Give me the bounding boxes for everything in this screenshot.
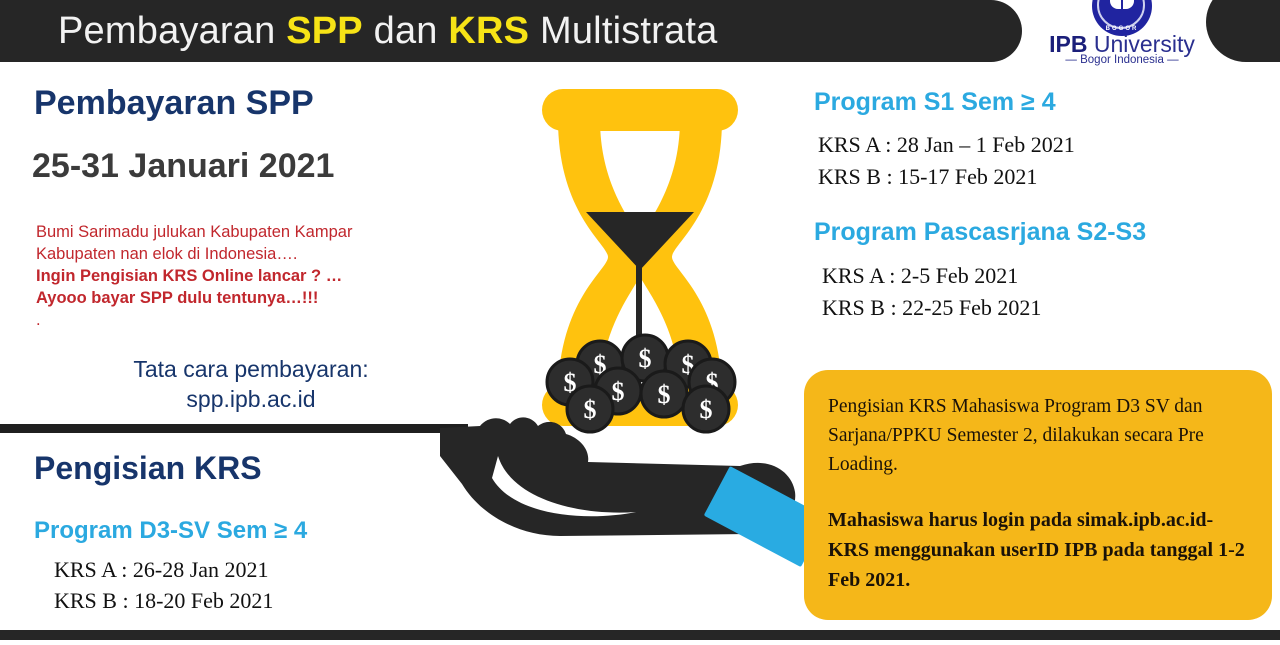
red-note-line-1: Bumi Sarimadu julukan Kabupaten Kampar [36,221,466,243]
ipb-university-logo: N I BOGOR IPB University — Bogor Indones… [1038,0,1206,64]
title-part-spp: SPP [286,10,363,52]
red-note-line-4: Ayooo bayar SPP dulu tentunya…!!! [36,287,466,309]
hourglass-hand-svg: $ $ $ $ $ $ $ [440,64,840,640]
title-part-post: Multistrata [529,10,717,52]
page-title: Pembayaran SPP dan KRS Multistrata [58,2,717,60]
krs-b-s1: KRS B : 15-17 Feb 2021 [818,161,1075,193]
krs-b-d3: KRS B : 18-20 Feb 2021 [54,585,273,616]
program-s1-heading: Program S1 Sem ≥ 4 [814,88,1056,117]
red-note-line-5: . [36,309,466,331]
red-note-block: Bumi Sarimadu julukan Kabupaten Kampar K… [36,221,466,331]
footer-bar [0,630,1280,640]
title-part-krs: KRS [448,10,529,52]
krs-a-d3: KRS A : 26-28 Jan 2021 [54,554,273,585]
program-d3-sv-dates: KRS A : 26-28 Jan 2021 KRS B : 18-20 Feb… [54,554,273,616]
spp-date-range: 25-31 Januari 2021 [32,147,334,186]
seal-book-spine [1121,0,1123,9]
svg-text:$: $ [612,377,625,406]
red-note-line-2: Kabupaten nan elok di Indonesia…. [36,243,466,265]
payment-howto-url[interactable]: spp.ipb.ac.id [36,384,466,414]
program-d3-sv-heading: Program D3-SV Sem ≥ 4 [34,517,307,545]
program-s1-dates: KRS A : 28 Jan – 1 Feb 2021 KRS B : 15-1… [818,129,1075,193]
krs-a-pasca: KRS A : 2-5 Feb 2021 [822,260,1041,292]
svg-text:$: $ [700,395,713,424]
hourglass-illustration: $ $ $ $ $ $ $ [440,64,840,640]
title-part-pre: Pembayaran [58,10,286,52]
header: Pembayaran SPP dan KRS Multistrata N I B… [0,0,1280,64]
krs-b-pasca: KRS B : 22-25 Feb 2021 [822,292,1041,324]
info-callout-box: Pengisian KRS Mahasiswa Program D3 SV da… [804,370,1272,620]
svg-text:$: $ [584,395,597,424]
left-column: Pembayaran SPP 25-31 Januari 2021 Bumi S… [0,64,500,640]
program-pascasarjana-heading: Program Pascasrjana S2-S3 [814,218,1146,247]
svg-text:$: $ [658,380,671,409]
ipb-wordmark: IPB University [1038,32,1206,56]
title-part-mid: dan [363,10,449,52]
red-note-line-3: Ingin Pengisian KRS Online lancar ? … [36,265,466,287]
header-right-accent-shape [1206,0,1280,62]
heading-pengisian-krs: Pengisian KRS [34,450,262,487]
program-pascasarjana-dates: KRS A : 2-5 Feb 2021 KRS B : 22-25 Feb 2… [822,260,1041,324]
right-column: Program S1 Sem ≥ 4 KRS A : 28 Jan – 1 Fe… [800,64,1280,640]
horizontal-divider [0,424,468,433]
payment-howto: Tata cara pembayaran: spp.ipb.ac.id [36,354,466,414]
svg-text:$: $ [639,344,652,373]
heading-pembayaran-spp: Pembayaran SPP [34,84,314,123]
info-paragraph-2: Mahasiswa harus login pada simak.ipb.ac.… [828,505,1250,595]
krs-a-s1: KRS A : 28 Jan – 1 Feb 2021 [818,129,1075,161]
hand-icon [440,417,827,567]
info-paragraph-1: Pengisian KRS Mahasiswa Program D3 SV da… [828,392,1250,479]
payment-howto-label: Tata cara pembayaran: [36,354,466,384]
